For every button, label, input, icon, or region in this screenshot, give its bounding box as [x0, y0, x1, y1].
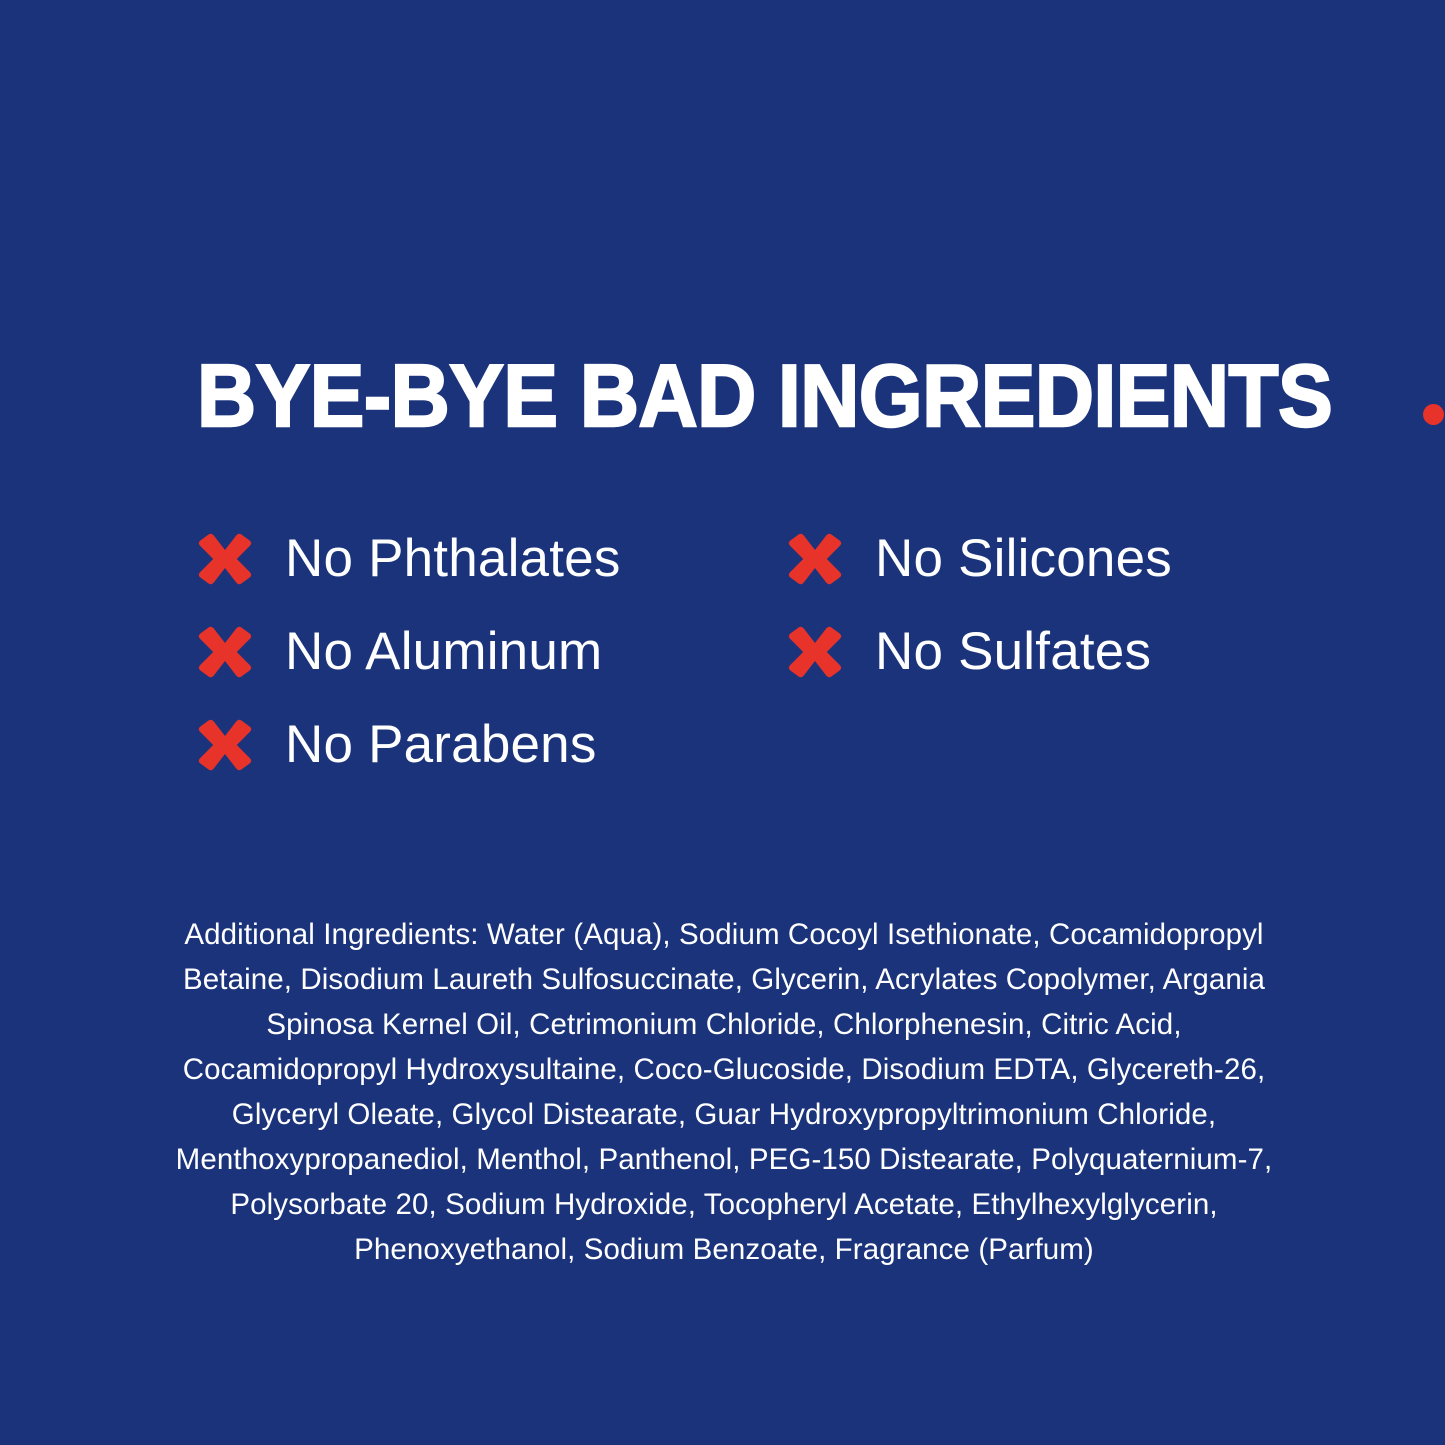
claims-row: No Phthalates No Silicones — [197, 512, 1267, 605]
red-x-icon — [197, 531, 253, 587]
page-title: BYE-BYE BAD INGREDIENTS — [197, 352, 1297, 444]
claims-row: No Parabens — [197, 698, 1267, 791]
red-x-icon — [197, 624, 253, 680]
ingredients-claims-poster: BYE-BYE BAD INGREDIENTS No Phthalates No… — [0, 0, 1445, 1445]
claim-label: No Sulfates — [875, 624, 1151, 680]
page-title-text: BYE-BYE BAD INGREDIENTS — [197, 352, 1332, 440]
additional-ingredients-text: Additional Ingredients: Water (Aqua), So… — [170, 912, 1278, 1272]
claims-list: No Phthalates No Silicones No Aluminum — [197, 512, 1267, 791]
title-accent-dot — [1423, 404, 1444, 425]
red-x-icon — [197, 717, 253, 773]
claim-item-silicones: No Silicones — [787, 531, 1267, 587]
claim-item-aluminum: No Aluminum — [197, 624, 787, 680]
red-x-icon — [787, 531, 843, 587]
claim-item-phthalates: No Phthalates — [197, 531, 787, 587]
claim-label: No Aluminum — [285, 624, 602, 680]
claims-row: No Aluminum No Sulfates — [197, 605, 1267, 698]
claim-item-sulfates: No Sulfates — [787, 624, 1267, 680]
claim-label: No Parabens — [285, 717, 597, 773]
claim-item-parabens: No Parabens — [197, 717, 787, 773]
red-x-icon — [787, 624, 843, 680]
claim-label: No Phthalates — [285, 531, 621, 587]
claim-label: No Silicones — [875, 531, 1172, 587]
